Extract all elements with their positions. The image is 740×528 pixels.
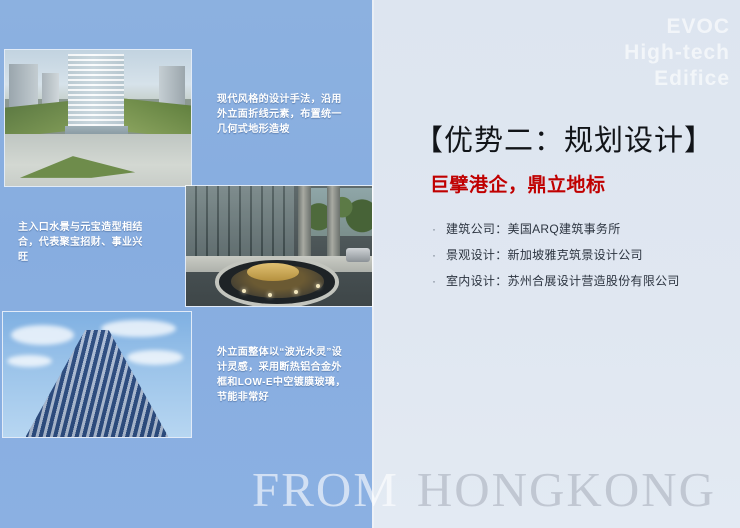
wordmark-from: FROM — [252, 462, 399, 517]
bullet-dot-icon: · — [432, 275, 446, 287]
bullet-dot-icon: · — [432, 223, 446, 235]
caption-entrance-water-feature: 主入口水景与元宝造型相结合，代表聚宝招财、事业兴旺 — [18, 220, 148, 265]
photo-tower-upshot — [3, 312, 191, 437]
list-item-value: 苏州合展设计营造股份有限公司 — [508, 272, 680, 289]
page-subtitle: 巨擘港企，鼎立地标 — [430, 170, 606, 197]
plaza-ground — [5, 134, 191, 186]
list-item-label: 室内设计： — [446, 272, 508, 289]
footer-wordmark: FROMHONGKONG — [252, 462, 716, 518]
cloud-4 — [7, 355, 52, 368]
column-two — [327, 186, 340, 265]
page-title: 【优势二：规划设计】 — [404, 123, 724, 159]
watermark-line-3: Edifice — [580, 66, 730, 92]
list-item: · 景观设计： 新加坡雅克筑景设计公司 — [432, 246, 722, 263]
caption-aerial-rendering: 现代风格的设计手法，沿用外立面折线元素，布置统一几何式地形造坡 — [217, 92, 343, 137]
lawn-right — [120, 98, 191, 138]
caption-tower-facade: 外立面整体以“波光水灵”设计灵感，采用断热铝合金外框和LOW-E中空镀膜玻璃，节… — [217, 345, 347, 405]
list-item: · 室内设计： 苏州合展设计营造股份有限公司 — [432, 272, 722, 289]
list-item-label: 景观设计： — [446, 246, 508, 263]
tower-facade — [26, 330, 169, 438]
watermark-line-1: EVOC — [580, 14, 730, 40]
slide-canvas: 现代风格的设计手法，沿用外立面折线元素，布置统一几何式地形造坡 主入口水景与元宝… — [0, 0, 740, 528]
pool-light-1 — [242, 289, 246, 293]
cloud-1 — [11, 325, 75, 345]
pool-light-2 — [268, 293, 272, 297]
photo-entrance-water-feature — [186, 186, 372, 306]
column-one — [298, 186, 311, 265]
bullet-dot-icon: · — [432, 249, 446, 261]
list-item: · 建筑公司： 美国ARQ建筑事务所 — [432, 220, 722, 237]
list-item-value: 美国ARQ建筑事务所 — [508, 220, 621, 237]
list-item-label: 建筑公司： — [446, 220, 508, 237]
main-tower — [68, 54, 124, 133]
photo-aerial-rendering — [5, 50, 191, 186]
panel-divider — [372, 0, 374, 528]
watermark-line-2: High-tech — [580, 40, 730, 66]
cloud-2 — [101, 320, 176, 338]
glass-curtain-wall — [186, 186, 294, 260]
evoc-watermark: EVOC High-tech Edifice — [580, 14, 730, 92]
design-team-list: · 建筑公司： 美国ARQ建筑事务所 · 景观设计： 新加坡雅克筑景设计公司 ·… — [432, 220, 722, 298]
wordmark-place: HONGKONG — [417, 462, 716, 517]
list-item-value: 新加坡雅克筑景设计公司 — [508, 246, 643, 263]
parked-car — [346, 248, 370, 261]
cloud-3 — [127, 350, 183, 365]
ingot-sculpture — [247, 263, 299, 281]
